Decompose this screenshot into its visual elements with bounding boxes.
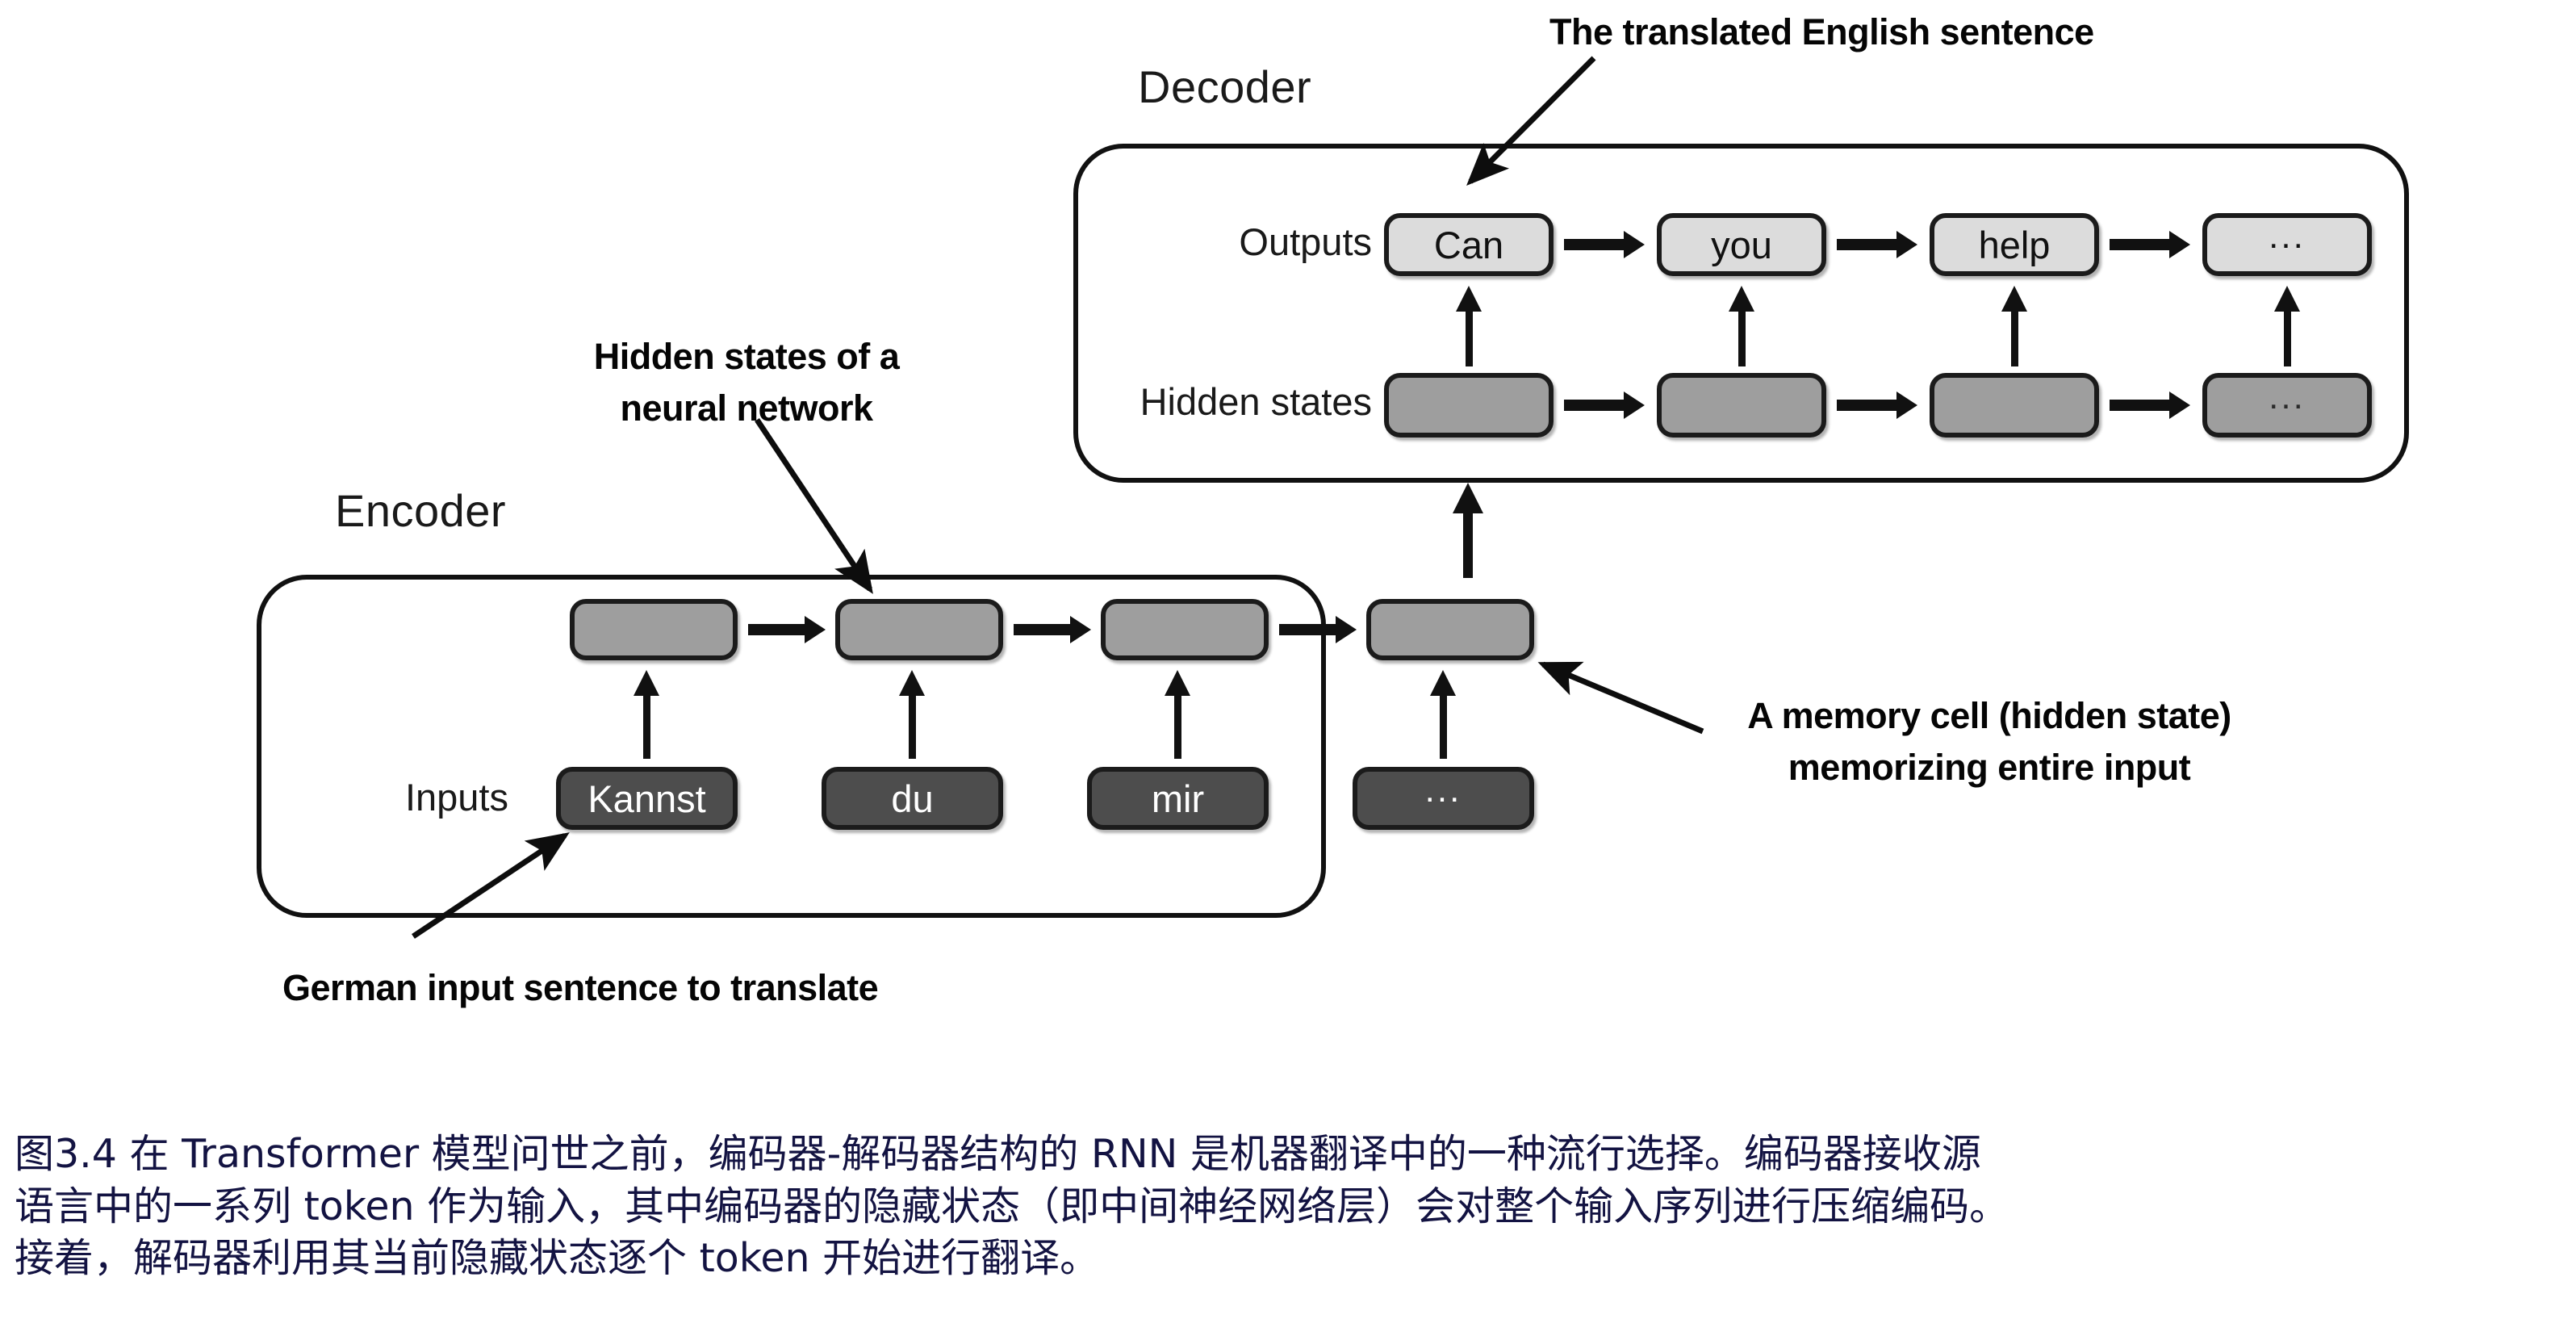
- arrow-head: [634, 670, 659, 696]
- decoder-hidden-arrow-2: [1837, 400, 1917, 411]
- callout-german-input-text: German input sentence to translate: [282, 967, 878, 1008]
- encoder-input-text-2: du: [891, 780, 933, 818]
- decoder-vertical-arrow-3: [2011, 286, 2018, 366]
- caption-line-2: 语言中的一系列 token 作为输入，其中编码器的隐藏状态（即中间神经网络层）会…: [15, 1181, 2565, 1233]
- encoder-hidden-cell-3[interactable]: [1101, 599, 1269, 660]
- arrow-head: [899, 670, 925, 696]
- arrow-shaft: [909, 694, 916, 759]
- arrow-head: [1456, 286, 1482, 312]
- encoder-input-cell-1[interactable]: Kannst: [556, 767, 738, 830]
- callout-memory-cell-line1: A memory cell (hidden state): [1715, 690, 2264, 742]
- decoder-output-cell-3[interactable]: help: [1930, 213, 2099, 276]
- encoder-input-text-3: mir: [1152, 780, 1204, 818]
- arrow-head: [2169, 392, 2190, 419]
- encoder-hidden-arrow-1: [748, 624, 826, 635]
- arrow-shaft: [748, 624, 805, 635]
- callout-hidden-states-line1: Hidden states of a: [573, 331, 920, 383]
- decoder-outputs-row-label: Outputs: [1130, 220, 1372, 264]
- arrow-shaft: [1564, 239, 1624, 250]
- callout-translated-sentence-text: The translated English sentence: [1549, 11, 2094, 52]
- arrow-head: [1453, 483, 1483, 513]
- decoder-vertical-arrow-1: [1466, 286, 1473, 366]
- arrow-shaft: [2011, 310, 2018, 366]
- encoder-hidden-cell-4[interactable]: [1366, 599, 1534, 660]
- decoder-output-arrow-2: [1837, 239, 1917, 250]
- decoder-vertical-arrow-2: [1738, 286, 1746, 366]
- encoder-hidden-arrow-2: [1014, 624, 1091, 635]
- decoder-hidden-arrow-1: [1564, 400, 1645, 411]
- decoder-output-cell-4[interactable]: ...: [2202, 213, 2372, 276]
- decoder-output-arrow-1: [1564, 239, 1645, 250]
- arrow-head: [1729, 286, 1754, 312]
- arrow-head: [1430, 670, 1456, 696]
- decoder-output-text-1: Can: [1434, 226, 1503, 264]
- callout-hidden-states: Hidden states of a neural network: [573, 331, 920, 434]
- decoder-hidden-cell-4[interactable]: ...: [2202, 373, 2372, 438]
- arrow-shaft: [1279, 624, 1336, 635]
- caption-line-1: 图3.4 在 Transformer 模型问世之前，编码器-解码器结构的 RNN…: [15, 1129, 2565, 1181]
- arrow-head: [2274, 286, 2300, 312]
- decoder-output-text-2: you: [1711, 226, 1772, 264]
- encoder-vertical-arrow-4: [1440, 670, 1447, 759]
- arrow-shaft: [1837, 239, 1896, 250]
- leader-hidden-states: [757, 420, 870, 589]
- encoder-hidden-cell-2[interactable]: [835, 599, 1003, 660]
- arrow-head: [1165, 670, 1190, 696]
- decoder-output-arrow-3: [2110, 239, 2190, 250]
- encoder-vertical-arrow-1: [643, 670, 650, 759]
- encoder-input-cell-3[interactable]: mir: [1087, 767, 1269, 830]
- arrow-shaft: [2110, 400, 2169, 411]
- figure-canvas: Decoder Outputs Hidden states Can you he…: [0, 0, 2576, 1114]
- arrow-shaft: [1466, 310, 1473, 366]
- callout-hidden-states-line2: neural network: [573, 383, 920, 434]
- encoder-vertical-arrow-2: [909, 670, 916, 759]
- leader-memory-cell: [1543, 664, 1703, 731]
- callout-memory-cell: A memory cell (hidden state) memorizing …: [1715, 690, 2264, 794]
- arrow-shaft: [2284, 310, 2291, 366]
- arrow-head: [1896, 231, 1917, 258]
- decoder-output-cell-2[interactable]: you: [1657, 213, 1826, 276]
- arrow-shaft: [2110, 239, 2169, 250]
- encoder-hidden-arrow-3: [1279, 624, 1357, 635]
- decoder-output-cell-1[interactable]: Can: [1384, 213, 1554, 276]
- encoder-input-text-4: ...: [1425, 773, 1462, 808]
- arrow-shaft: [1440, 694, 1447, 759]
- arrow-head: [2001, 286, 2027, 312]
- arrow-head: [1336, 616, 1357, 643]
- decoder-hidden-states-row-label: Hidden states: [1041, 379, 1372, 424]
- arrow-head: [2169, 231, 2190, 258]
- arrow-shaft: [1564, 400, 1624, 411]
- decoder-hidden-cell-3[interactable]: [1930, 373, 2099, 438]
- encoder-hidden-cell-1[interactable]: [570, 599, 738, 660]
- arrow-shaft: [1463, 510, 1473, 578]
- decoder-hidden-arrow-3: [2110, 400, 2190, 411]
- encoder-inputs-row-label: Inputs: [315, 775, 508, 819]
- arrow-shaft: [1837, 400, 1896, 411]
- decoder-output-text-4: ...: [2269, 219, 2306, 254]
- encoder-to-decoder-arrow: [1463, 483, 1473, 578]
- encoder-vertical-arrow-3: [1174, 670, 1181, 759]
- callout-translated-sentence: The translated English sentence: [1549, 6, 2094, 58]
- arrow-head: [1070, 616, 1091, 643]
- arrow-head: [1896, 392, 1917, 419]
- decoder-title: Decoder: [1138, 61, 1311, 113]
- encoder-input-text-1: Kannst: [588, 780, 705, 818]
- callout-german-input: German input sentence to translate: [282, 962, 878, 1014]
- arrow-head: [1624, 231, 1645, 258]
- caption-line-3: 接着，解码器利用其当前隐藏状态逐个 token 开始进行翻译。: [15, 1233, 2565, 1285]
- arrow-shaft: [1014, 624, 1070, 635]
- encoder-input-cell-4[interactable]: ...: [1353, 767, 1534, 830]
- callout-memory-cell-line2: memorizing entire input: [1715, 742, 2264, 794]
- arrow-shaft: [1738, 310, 1746, 366]
- decoder-hidden-text-4: ...: [2269, 379, 2306, 415]
- figure-caption: 图3.4 在 Transformer 模型问世之前，编码器-解码器结构的 RNN…: [15, 1129, 2565, 1285]
- decoder-output-text-3: help: [1979, 226, 2051, 264]
- encoder-title: Encoder: [335, 484, 506, 537]
- arrow-shaft: [1174, 694, 1181, 759]
- encoder-input-cell-2[interactable]: du: [822, 767, 1003, 830]
- arrow-shaft: [643, 694, 650, 759]
- arrow-head: [1624, 392, 1645, 419]
- decoder-hidden-cell-2[interactable]: [1657, 373, 1826, 438]
- decoder-hidden-cell-1[interactable]: [1384, 373, 1554, 438]
- arrow-head: [805, 616, 826, 643]
- decoder-vertical-arrow-4: [2284, 286, 2291, 366]
